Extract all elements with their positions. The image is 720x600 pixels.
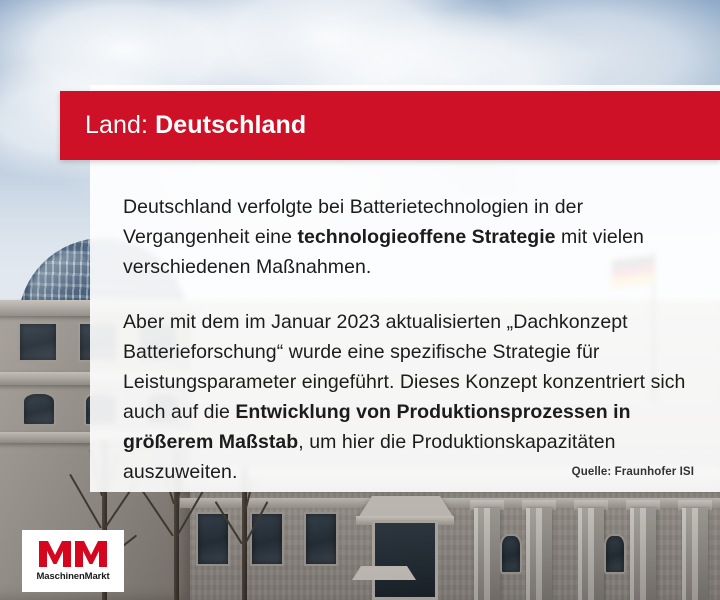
portal-pediment xyxy=(358,496,454,518)
source-attribution: Quelle: Fraunhofer ISI xyxy=(572,466,694,478)
country-header-banner: Land: Deutschland xyxy=(60,91,720,160)
banner-title: Land: Deutschland xyxy=(60,111,306,140)
building-window xyxy=(18,322,58,362)
mm-logo-icon xyxy=(38,540,108,568)
paragraph-2: Aber mit dem im Januar 2023 aktualisiert… xyxy=(123,307,690,487)
paragraph-1: Deutschland verfolgte bei Batterietechno… xyxy=(123,192,690,282)
facade-column xyxy=(526,508,552,600)
infographic-card: Land: Deutschland Deutschland verfolgte … xyxy=(0,0,720,600)
logo-wordmark: MaschinenMarkt xyxy=(36,571,109,582)
facade-column xyxy=(474,508,500,600)
building-main-portal xyxy=(372,520,438,600)
building-window xyxy=(500,534,522,574)
building-window xyxy=(604,534,626,574)
small-pediment xyxy=(352,566,416,580)
facade-column xyxy=(630,508,656,600)
banner-label: Land: xyxy=(85,111,155,139)
facade-column xyxy=(682,508,708,600)
building-window xyxy=(22,392,56,426)
banner-value: Deutschland xyxy=(155,111,306,139)
facade-column xyxy=(578,508,604,600)
building-window xyxy=(304,512,338,566)
maschinenmarkt-logo: MaschinenMarkt xyxy=(22,530,124,592)
card-body: Deutschland verfolgte bei Batterietechno… xyxy=(90,160,720,492)
